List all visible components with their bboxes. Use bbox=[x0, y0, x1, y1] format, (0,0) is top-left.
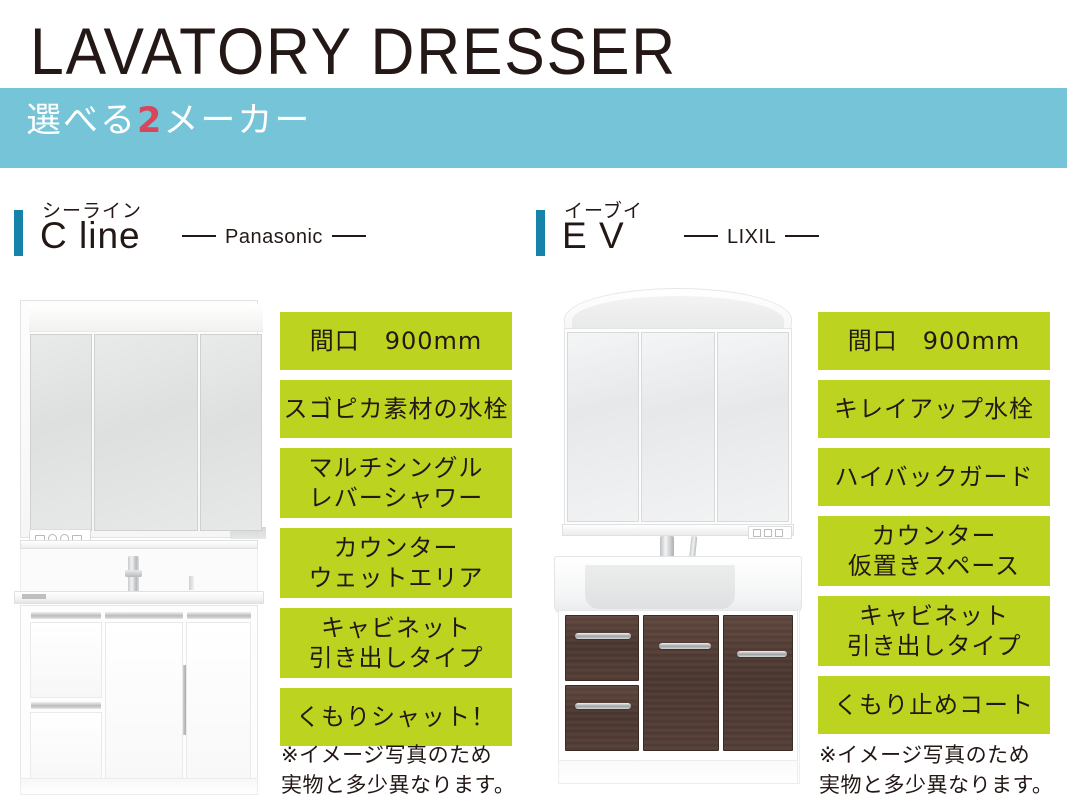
product-image-right bbox=[536, 288, 818, 796]
panasonic-logo-left bbox=[22, 594, 46, 599]
brand-maker-label-right: LIXIL bbox=[727, 226, 776, 248]
base-cabinet-left bbox=[20, 605, 258, 790]
dash-left-icon bbox=[182, 235, 216, 237]
mirror-panel-3-right bbox=[717, 332, 789, 522]
drawer-rail-icon bbox=[31, 702, 101, 709]
dash-right-icon bbox=[785, 235, 819, 237]
header-subtitle: 選べる2メーカー bbox=[26, 101, 311, 141]
page-header: LAVATORY DRESSER 選べる2メーカー bbox=[0, 0, 1067, 175]
feature-badge: スゴピカ素材の水栓 bbox=[280, 380, 512, 438]
control-switch-icon bbox=[753, 529, 761, 537]
feature-badge: カウンター 仮置きスペース bbox=[818, 516, 1050, 586]
cabinet-plinth-left bbox=[20, 778, 258, 795]
mirror-panel-1-left bbox=[30, 334, 92, 531]
brand-maker-left: Panasonic bbox=[182, 226, 366, 249]
control-switch-icon bbox=[775, 529, 783, 537]
drawer-rail-icon bbox=[105, 612, 183, 619]
page-title: LAVATORY DRESSER bbox=[30, 18, 677, 84]
mirror-panel-2-right bbox=[641, 332, 715, 522]
mirror-panel-2-left bbox=[94, 334, 198, 531]
brand-name-left: C line bbox=[40, 215, 141, 257]
feature-badge: キャビネット 引き出しタイプ bbox=[280, 608, 512, 678]
control-switch-icon bbox=[764, 529, 772, 537]
cabinet-drawer-right bbox=[565, 615, 639, 681]
counter-top-left bbox=[14, 591, 264, 604]
control-panel-right bbox=[748, 526, 792, 539]
dash-right-icon bbox=[332, 235, 366, 237]
feature-badge: カウンター ウェットエリア bbox=[280, 528, 512, 598]
mirror-light-bar-left bbox=[29, 304, 263, 332]
lavatory-dresser-page: LAVATORY DRESSER 選べる2メーカー シーライン C line P… bbox=[0, 0, 1067, 800]
counter-basin-right bbox=[554, 556, 802, 614]
feature-badge: くもり止めコート bbox=[818, 676, 1050, 734]
door-handle-icon bbox=[183, 665, 186, 735]
faucet-right bbox=[660, 536, 674, 558]
mirror-shelf-left bbox=[20, 540, 258, 549]
subtitle-pre: 選べる bbox=[26, 101, 137, 141]
cabinet-door-left bbox=[186, 622, 251, 786]
cabinet-door-right bbox=[723, 615, 793, 751]
faucet-left bbox=[128, 556, 139, 594]
feature-badge: 間口 900mm bbox=[280, 312, 512, 370]
base-cabinet-right bbox=[558, 610, 798, 762]
feature-badges-right: 間口 900mm キレイアップ水栓 ハイバックガード カウンター 仮置きスペース… bbox=[818, 312, 1050, 744]
dash-left-icon bbox=[684, 235, 718, 237]
disclaimer-left: ※イメージ写真のため 実物と多少異なります。 bbox=[281, 740, 531, 800]
drawer-handle-icon bbox=[575, 633, 631, 639]
brand-accent-bar-left bbox=[14, 210, 23, 256]
feature-badges-left: 間口 900mm スゴピカ素材の水栓 マルチシングル レバーシャワー カウンター… bbox=[280, 312, 512, 756]
cabinet-drawer-right bbox=[565, 685, 639, 751]
mirror-panel-3-left bbox=[200, 334, 262, 531]
cabinet-drawer-left bbox=[30, 622, 102, 698]
cabinet-door-right bbox=[643, 615, 719, 751]
feature-badge: 間口 900mm bbox=[818, 312, 1050, 370]
brand-accent-bar-right bbox=[536, 210, 545, 256]
feature-badge: ハイバックガード bbox=[818, 448, 1050, 506]
mirror-panel-1-right bbox=[567, 332, 639, 522]
feature-badge: キャビネット 引き出しタイプ bbox=[818, 596, 1050, 666]
cabinet-drawer-left bbox=[30, 712, 102, 786]
feature-badge: くもりシャット！ bbox=[280, 688, 512, 746]
drawer-handle-icon bbox=[575, 703, 631, 709]
mirror-cabinet-left bbox=[20, 300, 258, 538]
cabinet-door-left bbox=[105, 622, 183, 786]
brand-maker-right: LIXIL bbox=[684, 226, 819, 249]
subtitle-post: メーカー bbox=[163, 101, 311, 141]
subtitle-count: 2 bbox=[137, 101, 163, 141]
feature-badge: キレイアップ水栓 bbox=[818, 380, 1050, 438]
brand-maker-label-left: Panasonic bbox=[225, 226, 323, 248]
drawer-rail-icon bbox=[31, 612, 101, 619]
drain-lever-left bbox=[189, 576, 194, 590]
disclaimer-right: ※イメージ写真のため 実物と多少異なります。 bbox=[819, 740, 1067, 800]
cabinet-plinth-right bbox=[558, 760, 798, 784]
brand-name-right: E V bbox=[562, 215, 625, 257]
product-image-left bbox=[14, 300, 264, 795]
door-handle-icon bbox=[659, 643, 711, 649]
basin-bowl-right bbox=[585, 565, 735, 609]
door-handle-icon bbox=[737, 651, 787, 657]
feature-badge: マルチシングル レバーシャワー bbox=[280, 448, 512, 518]
drawer-rail-icon bbox=[187, 612, 251, 619]
